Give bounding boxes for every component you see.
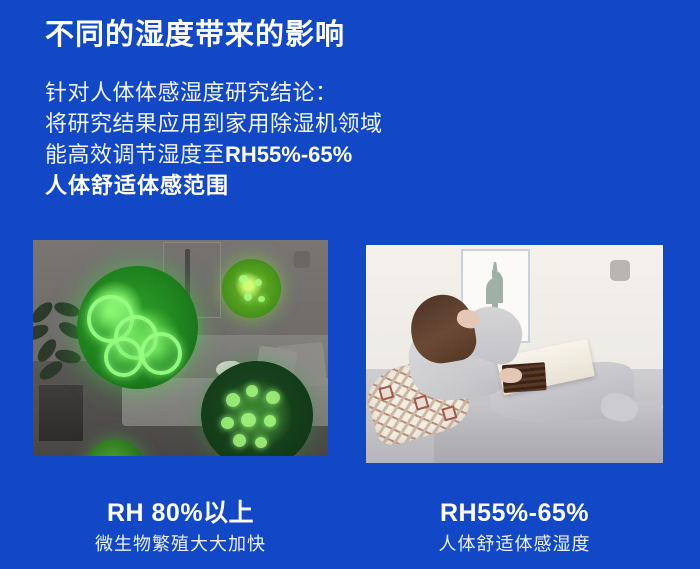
caption-comfort-humidity: RH55%-65% 人体舒适体感湿度 [366, 498, 663, 558]
caption-sub-comfort: 人体舒适体感湿度 [366, 530, 663, 558]
intro-line-3: 能高效调节湿度至RH55%-65% [45, 139, 383, 170]
intro-line-1: 针对人体体感湿度研究结论： [45, 77, 383, 108]
intro-paragraph: 针对人体体感湿度研究结论： 将研究结果应用到家用除湿机领域 能高效调节湿度至RH… [45, 77, 383, 201]
light-room-scene [366, 245, 663, 463]
dark-room-scene [33, 240, 328, 456]
microbe-sphere-large [77, 266, 198, 389]
caption-sub-high: 微生物繁殖大大加快 [33, 530, 328, 558]
wall-device-dark [294, 251, 310, 268]
woman-hand-on-book [499, 368, 522, 383]
caption-high-humidity: RH 80%以上 微生物繁殖大大加快 [33, 498, 328, 558]
photo-high-humidity [33, 240, 328, 456]
humidity-range-highlight: RH55%-65% [225, 142, 352, 167]
page-title: 不同的湿度带来的影响 [45, 18, 345, 53]
photo-comfort-humidity [366, 245, 663, 463]
woman-reading [402, 302, 634, 437]
caption-title-high: RH 80%以上 [33, 498, 328, 528]
wall-device-light [610, 260, 630, 281]
intro-line-4: 人体舒适体感范围 [45, 170, 383, 201]
caption-title-comfort: RH55%-65% [366, 498, 663, 528]
intro-line-2: 将研究结果应用到家用除湿机领域 [45, 108, 383, 139]
intro-line-3-prefix: 能高效调节湿度至 [45, 142, 225, 167]
poster-root: 不同的湿度带来的影响 针对人体体感湿度研究结论： 将研究结果应用到家用除湿机领域… [0, 0, 700, 569]
microbe-sphere-small [222, 259, 281, 317]
